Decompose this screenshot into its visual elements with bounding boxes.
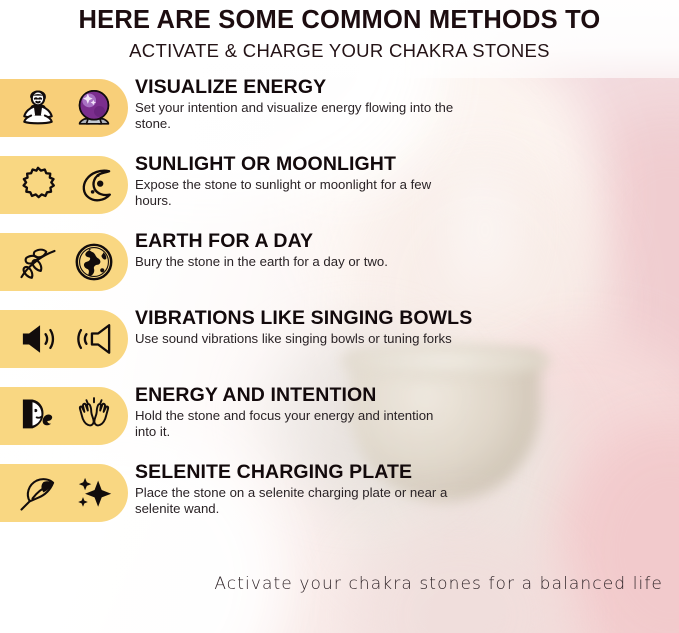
methods-list: VISUALIZE ENERGY Set your intention and … [0, 79, 679, 541]
list-item: SUNLIGHT OR MOONLIGHT Expose the stone t… [0, 156, 679, 233]
list-item: VISUALIZE ENERGY Set your intention and … [0, 79, 679, 156]
blowing-kiss-face-icon [16, 394, 60, 438]
method-text: VIBRATIONS LIKE SINGING BOWLS Use sound … [135, 307, 665, 347]
list-item: VIBRATIONS LIKE SINGING BOWLS Use sound … [0, 310, 679, 387]
raised-hands-icon [72, 394, 116, 438]
icon-pill [0, 387, 128, 445]
icon-pill [0, 156, 128, 214]
icon-pill [0, 310, 128, 368]
footer-tagline: Activate your chakra stones for a balanc… [0, 574, 679, 594]
crystal-ball-icon [72, 86, 116, 130]
list-item: SELENITE CHARGING PLATE Place the stone … [0, 464, 679, 541]
icon-pill [0, 233, 128, 291]
meditating-person-icon [16, 86, 60, 130]
list-item: ENERGY AND INTENTION Hold the stone and … [0, 387, 679, 464]
method-title: VIBRATIONS LIKE SINGING BOWLS [135, 307, 665, 330]
method-title: SELENITE CHARGING PLATE [135, 461, 665, 484]
method-desc: Use sound vibrations like singing bowls … [135, 331, 460, 347]
icon-pill [0, 464, 128, 522]
method-desc: Hold the stone and focus your energy and… [135, 408, 453, 440]
method-desc: Bury the stone in the earth for a day or… [135, 254, 495, 270]
header-line-1: HERE ARE SOME COMMON METHODS TO [0, 5, 679, 35]
poster-header: HERE ARE SOME COMMON METHODS TO ACTIVATE… [0, 0, 679, 62]
method-title: SUNLIGHT OR MOONLIGHT [135, 153, 665, 176]
speaker-sound-icon [16, 317, 60, 361]
method-text: VISUALIZE ENERGY Set your intention and … [135, 76, 665, 133]
header-line-2: ACTIVATE & CHARGE YOUR CHAKRA STONES [0, 39, 679, 62]
sun-icon [16, 163, 60, 207]
crescent-moon-icon [72, 163, 116, 207]
method-text: SUNLIGHT OR MOONLIGHT Expose the stone t… [135, 153, 665, 210]
method-desc: Place the stone on a selenite charging p… [135, 485, 463, 517]
method-title: VISUALIZE ENERGY [135, 76, 665, 99]
icon-pill [0, 79, 128, 137]
feather-quill-icon [16, 471, 60, 515]
method-text: ENERGY AND INTENTION Hold the stone and … [135, 384, 665, 441]
speaker-outline-icon [72, 317, 116, 361]
footer-tagline-text: Activate your chakra stones for a balanc… [214, 574, 663, 594]
method-text: SELENITE CHARGING PLATE Place the stone … [135, 461, 665, 518]
sparkles-icon [72, 471, 116, 515]
method-title: EARTH FOR A DAY [135, 230, 665, 253]
infographic-poster: HERE ARE SOME COMMON METHODS TO ACTIVATE… [0, 0, 679, 633]
list-item: EARTH FOR A DAY Bury the stone in the ea… [0, 233, 679, 310]
method-desc: Expose the stone to sunlight or moonligh… [135, 177, 457, 209]
leaf-branch-icon [16, 240, 60, 284]
method-text: EARTH FOR A DAY Bury the stone in the ea… [135, 230, 665, 270]
globe-icon [72, 240, 116, 284]
method-title: ENERGY AND INTENTION [135, 384, 665, 407]
method-desc: Set your intention and visualize energy … [135, 100, 465, 132]
